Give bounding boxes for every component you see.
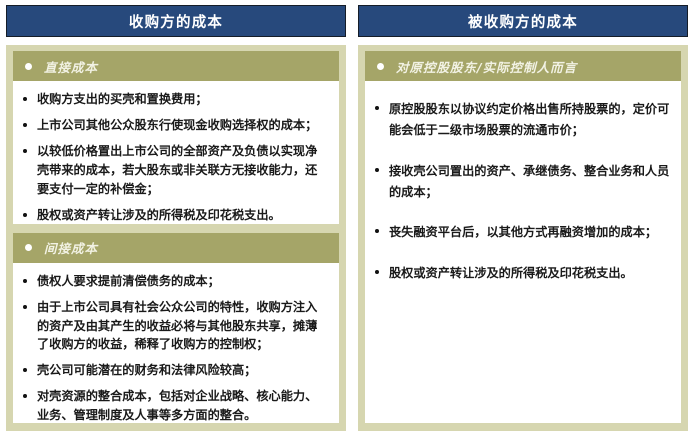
panel-body-acquirer-costs: 直接成本 收购方支出的买壳和置换费用； 上市公司其他公众股东行使现金收购选择权的… xyxy=(6,45,346,431)
bullet-list-indirect-costs: 债权人要求提前清偿债务的成本； 由于上市公司具有社会公众公司的特性，收购方注入的… xyxy=(21,272,329,423)
panel-title-target-costs: 被收购方的成本 xyxy=(358,5,688,37)
list-item: 收购方支出的买壳和置换费用； xyxy=(21,90,329,109)
bullet-list-original-controller: 原控股股东以协议约定价格出售所持股票的，定价可能会低于二级市场股票的流通市价； … xyxy=(373,99,671,284)
panel-target-costs: 被收购方的成本 对原控股股东/实际控制人而言 原控股股东以协议约定价格出售所持股… xyxy=(352,0,696,442)
section-header-original-controller: 对原控股股东/实际控制人而言 xyxy=(365,51,681,81)
bullet-dot-icon xyxy=(25,244,32,251)
panel-body-target-costs: 对原控股股东/实际控制人而言 原控股股东以协议约定价格出售所持股票的，定价可能会… xyxy=(358,45,688,431)
list-item: 债权人要求提前清偿债务的成本； xyxy=(21,272,329,291)
bullet-dot-icon xyxy=(377,63,384,70)
comparison-board: 收购方的成本 直接成本 收购方支出的买壳和置换费用； 上市公司其他公众股东行使现… xyxy=(0,0,696,442)
list-item: 股权或资产转让涉及的所得税及印花税支出。 xyxy=(21,206,329,224)
section-header-label-direct-costs: 直接成本 xyxy=(44,57,98,76)
section-content-original-controller: 原控股股东以协议约定价格出售所持股票的，定价可能会低于二级市场股票的流通市价； … xyxy=(365,81,681,423)
section-content-indirect-costs: 债权人要求提前清偿债务的成本； 由于上市公司具有社会公众公司的特性，收购方注入的… xyxy=(13,263,339,423)
bullet-list-direct-costs: 收购方支出的买壳和置换费用； 上市公司其他公众股东行使现金收购选择权的成本； 以… xyxy=(21,90,329,224)
section-header-indirect-costs: 间接成本 xyxy=(13,233,339,263)
section-header-label-original-controller: 对原控股股东/实际控制人而言 xyxy=(396,57,577,76)
list-item: 由于上市公司具有社会公众公司的特性，收购方注入的资产及由其产生的收益必将与其他股… xyxy=(21,298,329,355)
panel-acquirer-costs: 收购方的成本 直接成本 收购方支出的买壳和置换费用； 上市公司其他公众股东行使现… xyxy=(0,0,352,442)
list-item: 壳公司可能潜在的财务和法律风险较高； xyxy=(21,361,329,380)
section-divider-spacer xyxy=(13,224,339,233)
section-header-label-indirect-costs: 间接成本 xyxy=(44,238,98,257)
list-item: 以较低价格置出上市公司的全部资产及负债以实现净壳带来的成本，若大股东或非关联方无… xyxy=(21,142,329,199)
list-item: 股权或资产转让涉及的所得税及印花税支出。 xyxy=(373,263,671,284)
section-header-direct-costs: 直接成本 xyxy=(13,51,339,81)
panel-title-acquirer-costs: 收购方的成本 xyxy=(6,5,346,37)
content-top-spacer xyxy=(373,90,671,99)
bullet-dot-icon xyxy=(25,63,32,70)
list-item: 丧失融资平台后，以其他方式再融资增加的成本； xyxy=(373,222,671,243)
list-item: 上市公司其他公众股东行使现金收购选择权的成本； xyxy=(21,116,329,135)
list-item: 原控股股东以协议约定价格出售所持股票的，定价可能会低于二级市场股票的流通市价； xyxy=(373,99,671,142)
section-content-direct-costs: 收购方支出的买壳和置换费用； 上市公司其他公众股东行使现金收购选择权的成本； 以… xyxy=(13,81,339,224)
list-item: 对壳资源的整合成本，包括对企业战略、核心能力、业务、管理制度及人事等多方面的整合… xyxy=(21,387,329,423)
list-item: 接收壳公司置出的资产、承继债务、整合业务和人员的成本； xyxy=(373,161,671,204)
